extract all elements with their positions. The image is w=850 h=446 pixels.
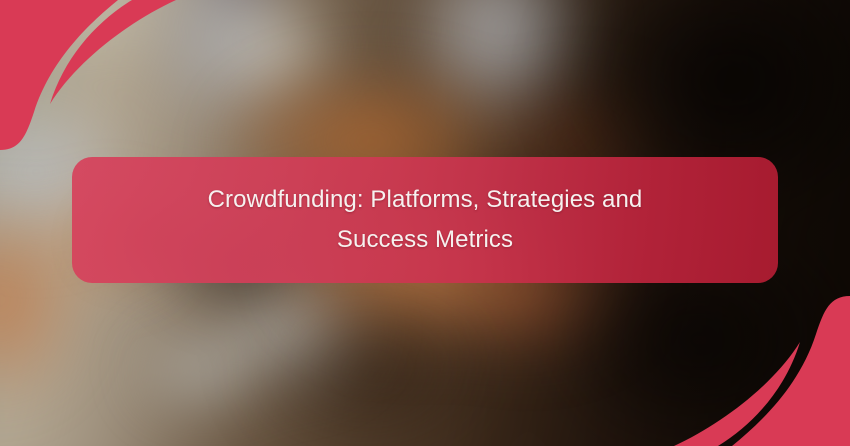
page-title: Crowdfunding: Platforms, Strategies and … <box>165 180 685 260</box>
title-plate: Crowdfunding: Platforms, Strategies and … <box>72 157 778 283</box>
featured-image-banner: Crowdfunding: Platforms, Strategies and … <box>0 0 850 446</box>
